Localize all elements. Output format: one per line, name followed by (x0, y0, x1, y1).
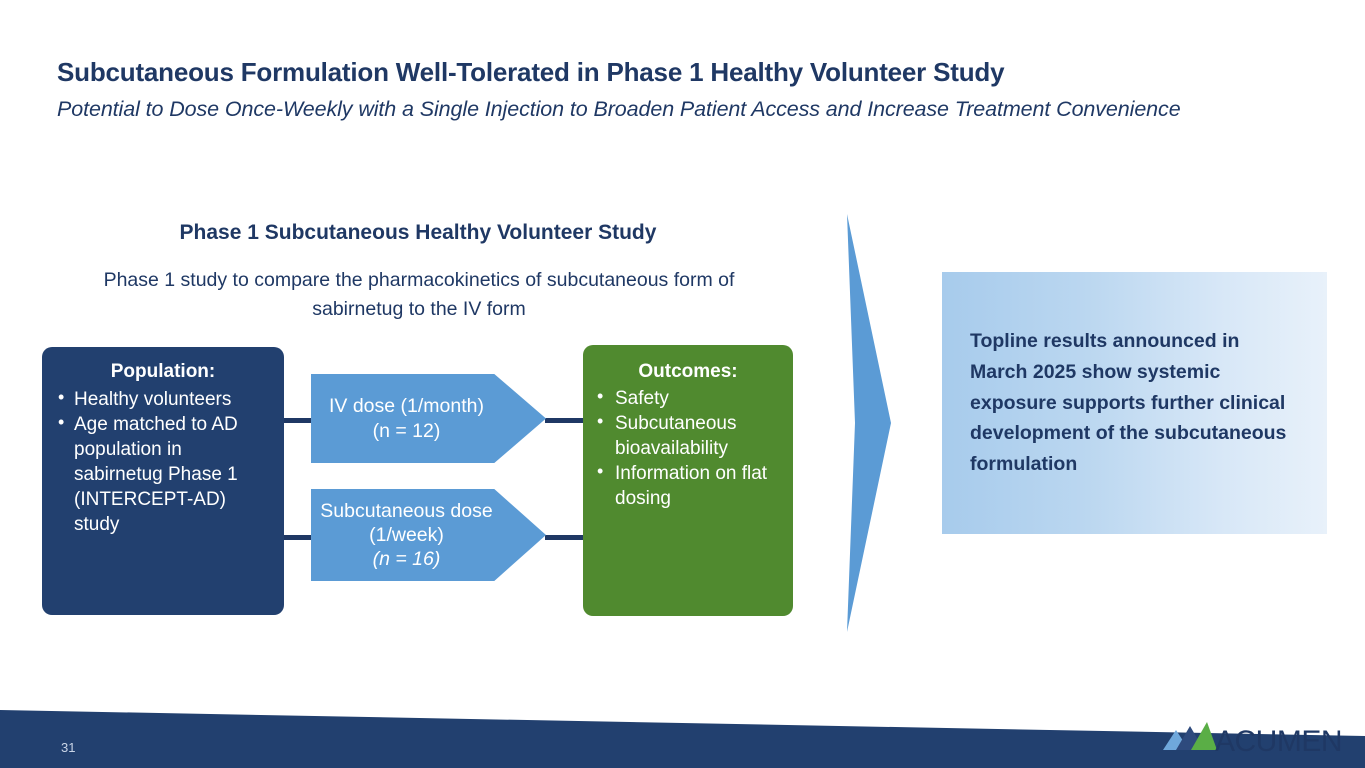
study-panel-heading: Phase 1 Subcutaneous Healthy Volunteer S… (60, 221, 776, 245)
population-box: Population: Healthy volunteers Age match… (42, 347, 284, 615)
iv-dose-arrow: IV dose (1/month) (n = 12) (311, 374, 546, 463)
outcomes-list: Safety Subcutaneous bioavailability Info… (593, 386, 783, 511)
acumen-logo-text: ACUMEN (1215, 725, 1342, 758)
iv-dose-label: IV dose (1/month) (329, 394, 484, 418)
outcomes-title: Outcomes: (593, 361, 783, 383)
topline-results-callout: Topline results announced in March 2025 … (942, 272, 1327, 534)
subcutaneous-dose-n: (n = 16) (373, 547, 441, 571)
list-item: Age matched to AD population in sabirnet… (54, 412, 272, 537)
iv-dose-n: (n = 12) (373, 419, 441, 443)
acumen-logo: ACUMEN (1163, 720, 1353, 760)
slide-title: Subcutaneous Formulation Well-Tolerated … (57, 58, 1327, 87)
topline-results-text: Topline results announced in March 2025 … (970, 326, 1301, 480)
list-item: Information on flat dosing (593, 461, 783, 511)
acumen-logo-mark (1163, 722, 1217, 750)
population-title: Population: (54, 361, 272, 383)
footer-band (0, 688, 1365, 768)
list-item: Healthy volunteers (54, 387, 272, 412)
slide-canvas: Subcutaneous Formulation Well-Tolerated … (0, 0, 1365, 768)
subcutaneous-dose-arrow: Subcutaneous dose (1/week) (n = 16) (311, 489, 546, 581)
study-panel-description: Phase 1 study to compare the pharmacokin… (58, 266, 780, 324)
outcomes-box: Outcomes: Safety Subcutaneous bioavailab… (583, 345, 793, 616)
slide-subtitle: Potential to Dose Once-Weekly with a Sin… (57, 97, 1337, 122)
subcutaneous-dose-frequency: (1/week) (369, 523, 444, 547)
list-item: Subcutaneous bioavailability (593, 411, 783, 461)
page-number: 31 (61, 740, 75, 755)
list-item: Safety (593, 386, 783, 411)
subcutaneous-dose-label: Subcutaneous dose (320, 499, 492, 523)
population-list: Healthy volunteers Age matched to AD pop… (54, 387, 272, 537)
chevron-right-arrow-icon (845, 214, 893, 632)
